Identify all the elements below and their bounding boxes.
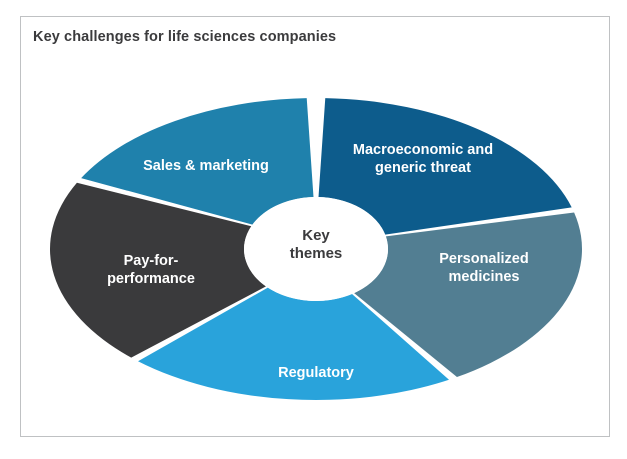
- wheel-label-regulatory: Regulatory: [278, 365, 354, 381]
- key-themes-wheel: Macroeconomic andgeneric threatPersonali…: [0, 0, 627, 459]
- wheel-label-sales-and-marketing: Sales & marketing: [143, 158, 269, 174]
